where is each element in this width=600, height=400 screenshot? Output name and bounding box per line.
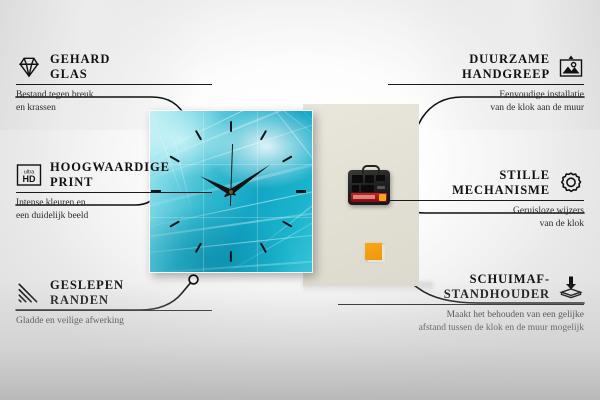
movement-battery	[351, 193, 387, 202]
feature-header: ultra HD HOOGWAARDIGE PRINT	[16, 160, 212, 189]
infographic-canvas: GEHARD GLAS Bestand tegen breuk en krass…	[0, 0, 600, 400]
feature-header: STILLE MECHANISME	[388, 168, 584, 197]
feature-schuimafstandhouder: SCHUIMAF- STANDHOUDER Maakt het behouden…	[338, 272, 584, 334]
feature-header: GESLEPEN RANDEN	[16, 278, 212, 307]
feature-title: HOOGWAARDIGE PRINT	[50, 160, 170, 189]
feature-divider	[338, 304, 584, 305]
feature-header: DUURZAME HANDGREEP	[388, 52, 584, 81]
feature-subtitle: Eenvoudige installatie van de klok aan d…	[388, 89, 584, 114]
feature-stille-mechanisme: STILLE MECHANISME Geruisloze wijzers van…	[388, 168, 584, 230]
foam-standoff-icon	[558, 274, 584, 300]
battery-label	[353, 195, 375, 199]
svg-text:HD: HD	[23, 174, 36, 184]
feature-geslepen-randen: GESLEPEN RANDEN Gladde en veilige afwerk…	[16, 278, 212, 328]
feature-subtitle: Bestand tegen breuk en krassen	[16, 89, 212, 114]
feature-title: DUURZAME HANDGREEP	[462, 52, 550, 81]
feature-title: SCHUIMAF- STANDHOUDER	[444, 272, 550, 301]
feature-subtitle: Intense kleuren en een duidelijk beeld	[16, 197, 212, 222]
ultra-hd-icon: ultra HD	[16, 162, 42, 188]
movement-hanger	[362, 165, 380, 174]
feature-divider	[16, 192, 212, 193]
feature-header: SCHUIMAF- STANDHOUDER	[338, 272, 584, 301]
clock-center-cap	[229, 190, 233, 194]
feature-subtitle: Gladde en veilige afwerking	[16, 315, 212, 327]
feature-duurzame-handgreep: DUURZAME HANDGREEP Eenvoudige installati…	[388, 52, 584, 114]
feature-divider	[388, 84, 584, 85]
foam-standoff-pad	[365, 243, 382, 260]
picture-frame-icon	[558, 54, 584, 80]
clock-movement	[348, 170, 390, 205]
feature-title: GEHARD GLAS	[50, 52, 110, 81]
battery-plus-terminal	[379, 194, 386, 201]
feature-subtitle: Geruisloze wijzers van de klok	[388, 205, 584, 230]
feature-title: STILLE MECHANISME	[452, 168, 550, 197]
feature-divider	[388, 200, 584, 201]
gear-icon	[558, 170, 584, 196]
feature-divider	[16, 310, 212, 311]
feature-header: GEHARD GLAS	[16, 52, 212, 81]
bevelled-edges-icon	[16, 280, 42, 306]
diamond-icon	[16, 54, 42, 80]
feature-title: GESLEPEN RANDEN	[50, 278, 124, 307]
feature-divider	[16, 84, 212, 85]
feature-gehard-glas: GEHARD GLAS Bestand tegen breuk en krass…	[16, 52, 212, 114]
feature-subtitle: Maakt het behouden van een gelijke afsta…	[338, 309, 584, 334]
feature-hoogwaardige-print: ultra HD HOOGWAARDIGE PRINT Intense kleu…	[16, 160, 212, 222]
